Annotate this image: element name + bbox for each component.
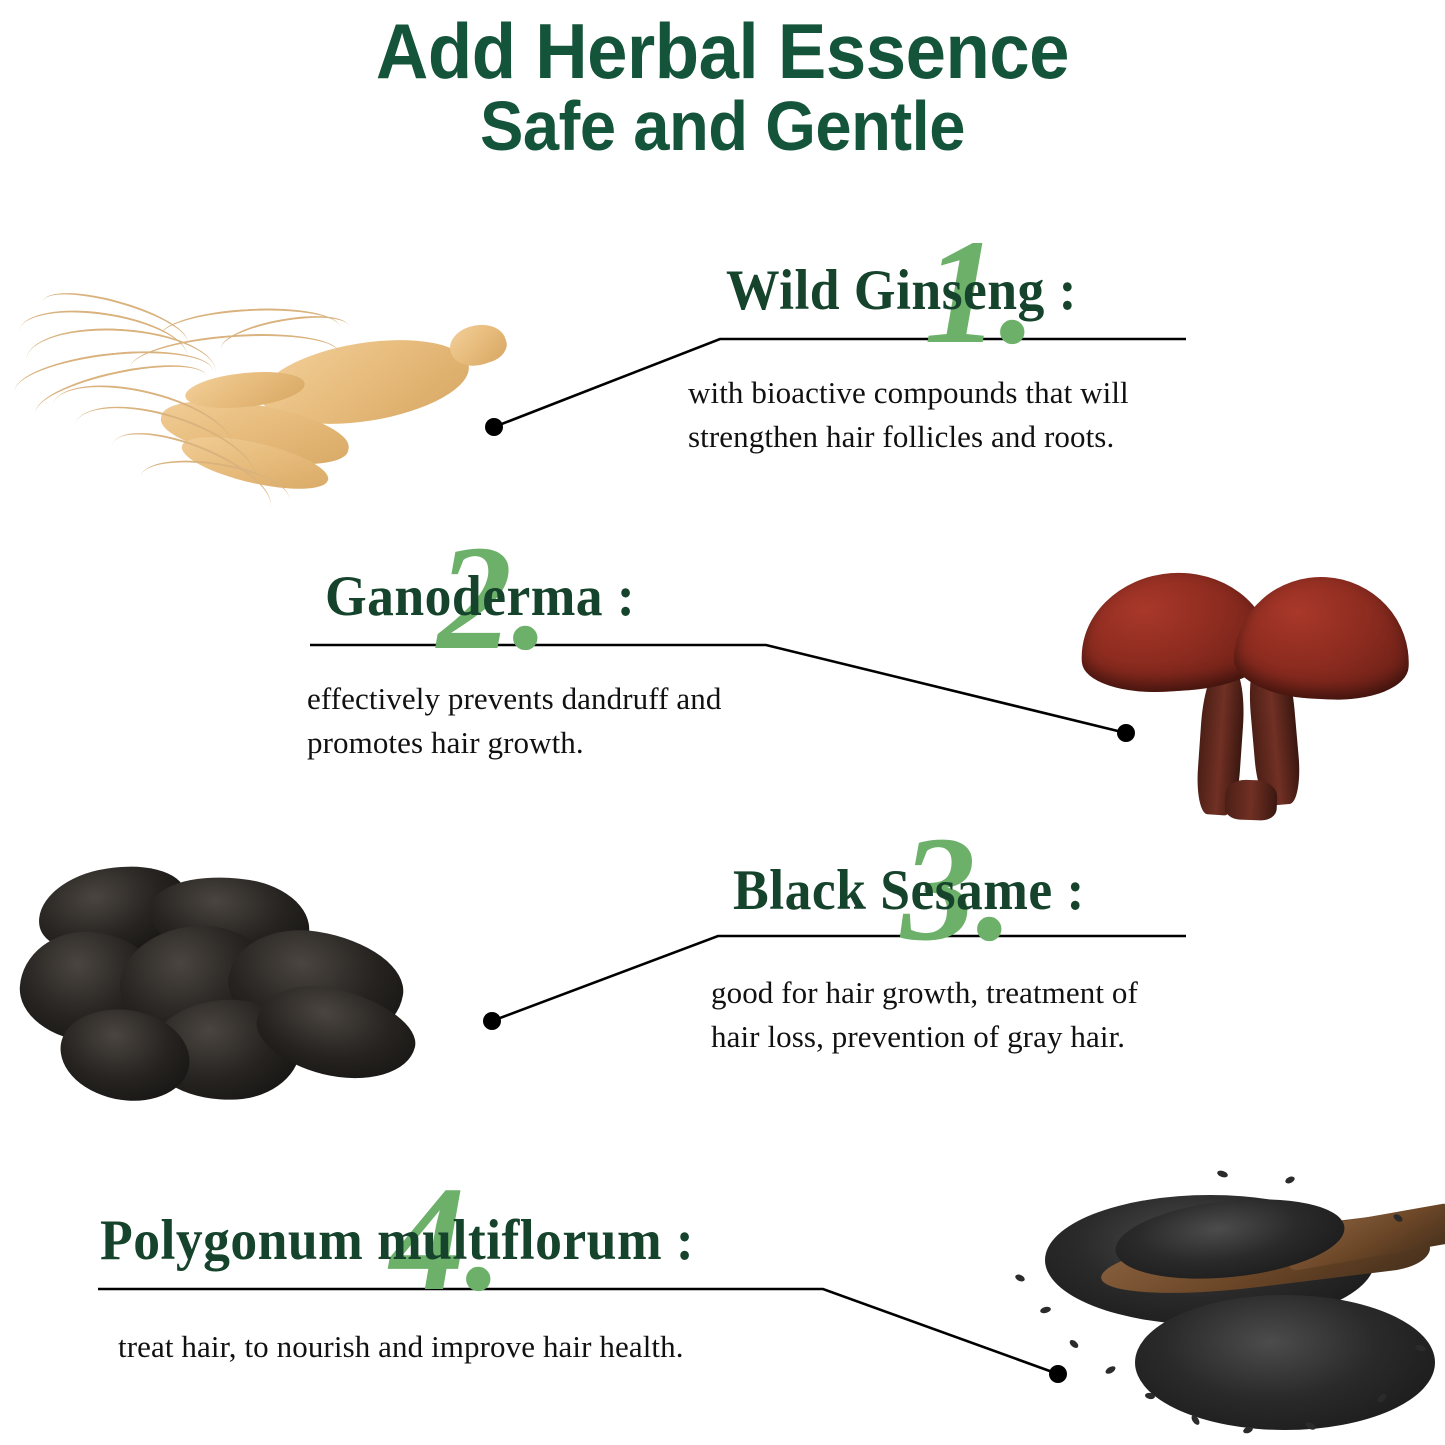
ganoderma-cap-right [1232, 573, 1413, 704]
sesame-seed [1068, 1338, 1080, 1349]
heading-wrap-3: 3. Black Sesame : [733, 862, 1107, 919]
ganoderma-stem-base [1224, 779, 1277, 821]
page-title: Add Herbal Essence Safe and Gentle [0, 14, 1445, 160]
herbal-essence-infographic: Add Herbal Essence Safe and Gentle [0, 0, 1445, 1445]
item-description-1-line1: with bioactive compounds that will [688, 371, 1129, 415]
sesame-seed [1216, 1169, 1228, 1178]
item-description-2: effectively prevents dandruff and promot… [307, 677, 721, 765]
item-description-3-line2: hair loss, prevention of gray hair. [711, 1015, 1138, 1059]
item-heading-3: Black Sesame : [733, 862, 1085, 919]
item-description-3: good for hair growth, treatment of hair … [711, 971, 1138, 1059]
ingredient-item-1: 1. Wild Ginseng : with bioactive compoun… [726, 262, 1129, 459]
sesame-seed [1104, 1365, 1117, 1376]
heading-wrap-4: 4. Polygonum multiflorum : [100, 1212, 732, 1269]
ingredient-item-4: 4. Polygonum multiflorum : treat hair, t… [100, 1212, 732, 1369]
item-description-2-line1: effectively prevents dandruff and [307, 677, 721, 721]
item-heading-4: Polygonum multiflorum : [100, 1212, 694, 1269]
sesame-seed [1284, 1175, 1296, 1185]
sesame-seed [1014, 1273, 1026, 1283]
item-description-2-line2: promotes hair growth. [307, 721, 721, 765]
sesame-pile-lower [1135, 1295, 1435, 1430]
heading-wrap-2: 2. Ganoderma : [325, 568, 655, 625]
title-line-1: Add Herbal Essence [51, 14, 1395, 89]
black-sesame-seeds-photo [985, 1155, 1445, 1445]
item-description-1-line2: strengthen hair follicles and roots. [688, 415, 1129, 459]
item-description-4-line1: treat hair, to nourish and improve hair … [118, 1325, 732, 1369]
ingredient-item-2: 2. Ganoderma : effectively prevents dand… [325, 568, 721, 765]
item-description-4: treat hair, to nourish and improve hair … [118, 1325, 732, 1369]
heading-wrap-1: 1. Wild Ginseng : [726, 262, 1099, 319]
sesame-seed [1039, 1306, 1051, 1315]
item-heading-2: Ganoderma : [325, 568, 635, 625]
item-description-1: with bioactive compounds that will stren… [688, 371, 1129, 459]
polygonum-slices-photo [0, 860, 470, 1110]
ganoderma-mushroom-photo [1060, 555, 1420, 820]
ingredient-item-3: 3. Black Sesame : good for hair growth, … [733, 862, 1138, 1059]
connector-dot-3 [483, 1012, 501, 1030]
item-heading-1: Wild Ginseng : [726, 262, 1077, 319]
ginseng-root-photo [10, 295, 510, 525]
item-description-3-line1: good for hair growth, treatment of [711, 971, 1138, 1015]
title-line-2: Safe and Gentle [51, 93, 1395, 160]
